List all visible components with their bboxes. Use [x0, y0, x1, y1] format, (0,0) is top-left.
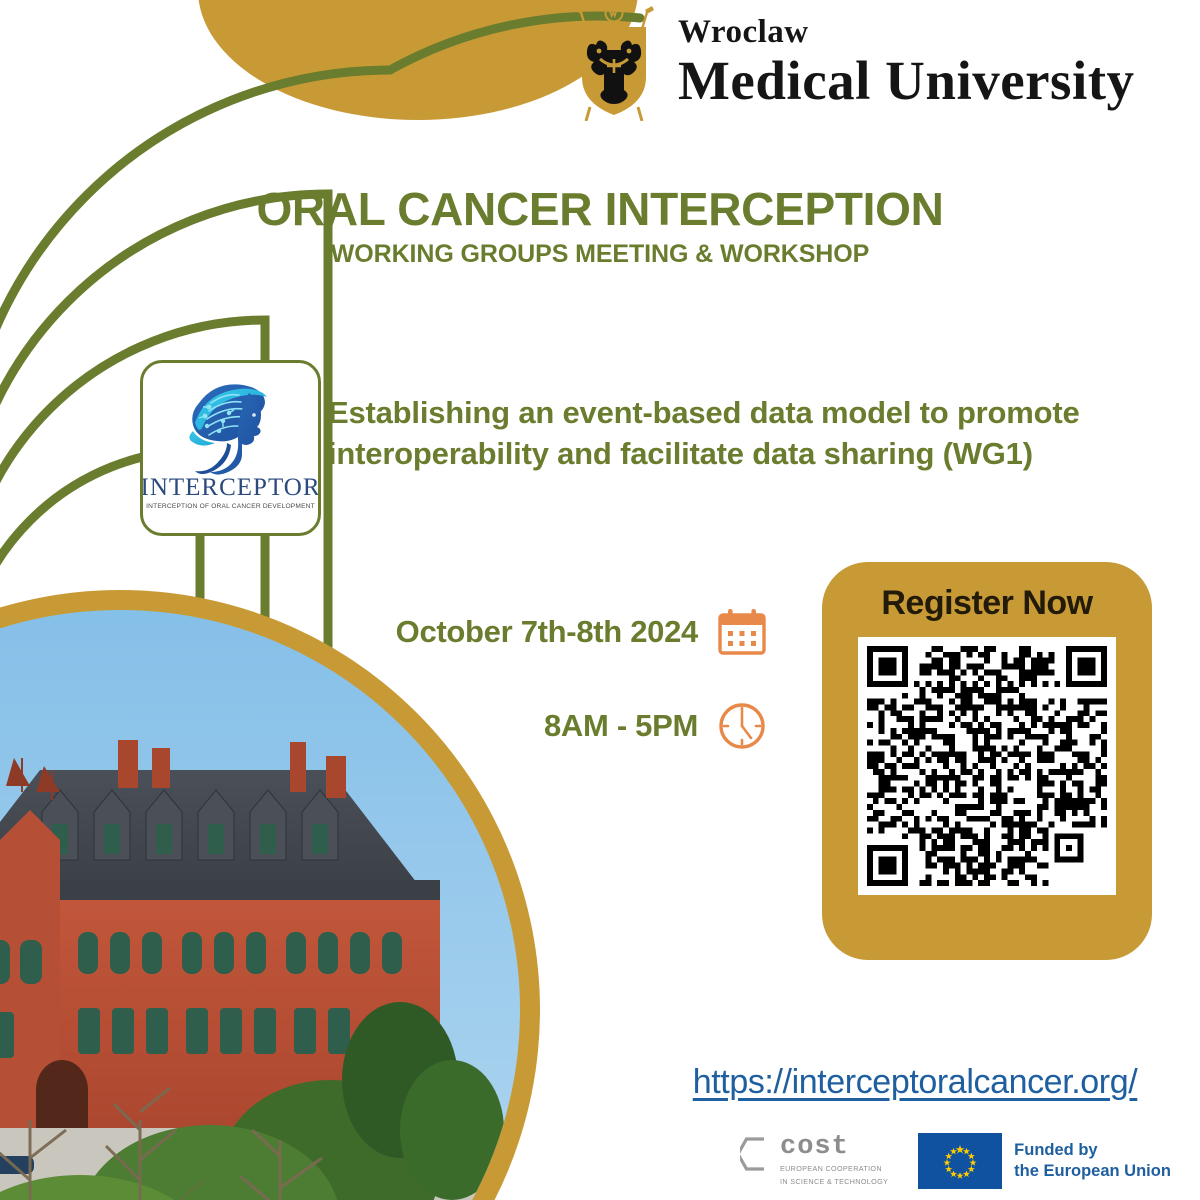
- wroclaw-crest-icon: [566, 3, 662, 121]
- interceptor-face-circuit-icon: [171, 369, 291, 479]
- cost-wordmark: cost: [780, 1135, 888, 1161]
- cost-hexagon-icon: [740, 1136, 773, 1172]
- photo-ring: [0, 590, 540, 1200]
- poster-canvas: Wroclaw Medical University ORAL CANCER I…: [0, 0, 1200, 1200]
- university-name-line1: Wroclaw: [678, 16, 1135, 49]
- qr-code-frame[interactable]: [858, 637, 1116, 895]
- cost-logo: cost EUROPEAN COOPERATION IN SCIENCE & T…: [740, 1135, 888, 1186]
- event-time: 8AM - 5PM: [544, 708, 698, 744]
- qr-code-icon[interactable]: [867, 646, 1107, 886]
- workshop-description: Establishing an event-based data model t…: [328, 392, 1178, 474]
- footer-logos: cost EUROPEAN COOPERATION IN SCIENCE & T…: [740, 1128, 1186, 1194]
- university-name-line2: Medical University: [678, 53, 1135, 108]
- calendar-icon: [716, 606, 768, 658]
- campus-building-photo: [0, 600, 540, 1200]
- interceptor-tagline: INTERCEPTION OF ORAL CANCER DEVELOPMENT: [146, 503, 315, 510]
- page-title: ORAL CANCER INTERCEPTION: [0, 182, 1200, 236]
- page-subtitle: WORKING GROUPS MEETING & WORKSHOP: [0, 240, 1200, 269]
- website-url-link[interactable]: https://interceptoralcancer.org/: [650, 1063, 1180, 1102]
- cost-subtitle-line1: EUROPEAN COOPERATION: [780, 1164, 888, 1174]
- eu-flag-icon: [918, 1133, 1002, 1189]
- event-time-row: 8AM - 5PM: [338, 700, 768, 752]
- register-now-label: Register Now: [881, 584, 1092, 623]
- register-card[interactable]: Register Now: [822, 562, 1152, 960]
- interceptor-wordmark: INTERCEPTOR: [141, 475, 321, 500]
- eu-funding-line1: Funded by: [1014, 1140, 1171, 1161]
- interceptor-logo-card: INTERCEPTOR INTERCEPTION OF ORAL CANCER …: [140, 360, 321, 536]
- event-date: October 7th-8th 2024: [396, 614, 698, 650]
- clock-icon: [716, 700, 768, 752]
- event-date-row: October 7th-8th 2024: [338, 606, 768, 658]
- cost-subtitle-line2: IN SCIENCE & TECHNOLOGY: [780, 1177, 888, 1187]
- eu-funding-line2: the European Union: [1014, 1161, 1171, 1182]
- university-logo: Wroclaw Medical University: [566, 2, 1186, 122]
- eu-funding-logo: Funded by the European Union: [918, 1133, 1171, 1189]
